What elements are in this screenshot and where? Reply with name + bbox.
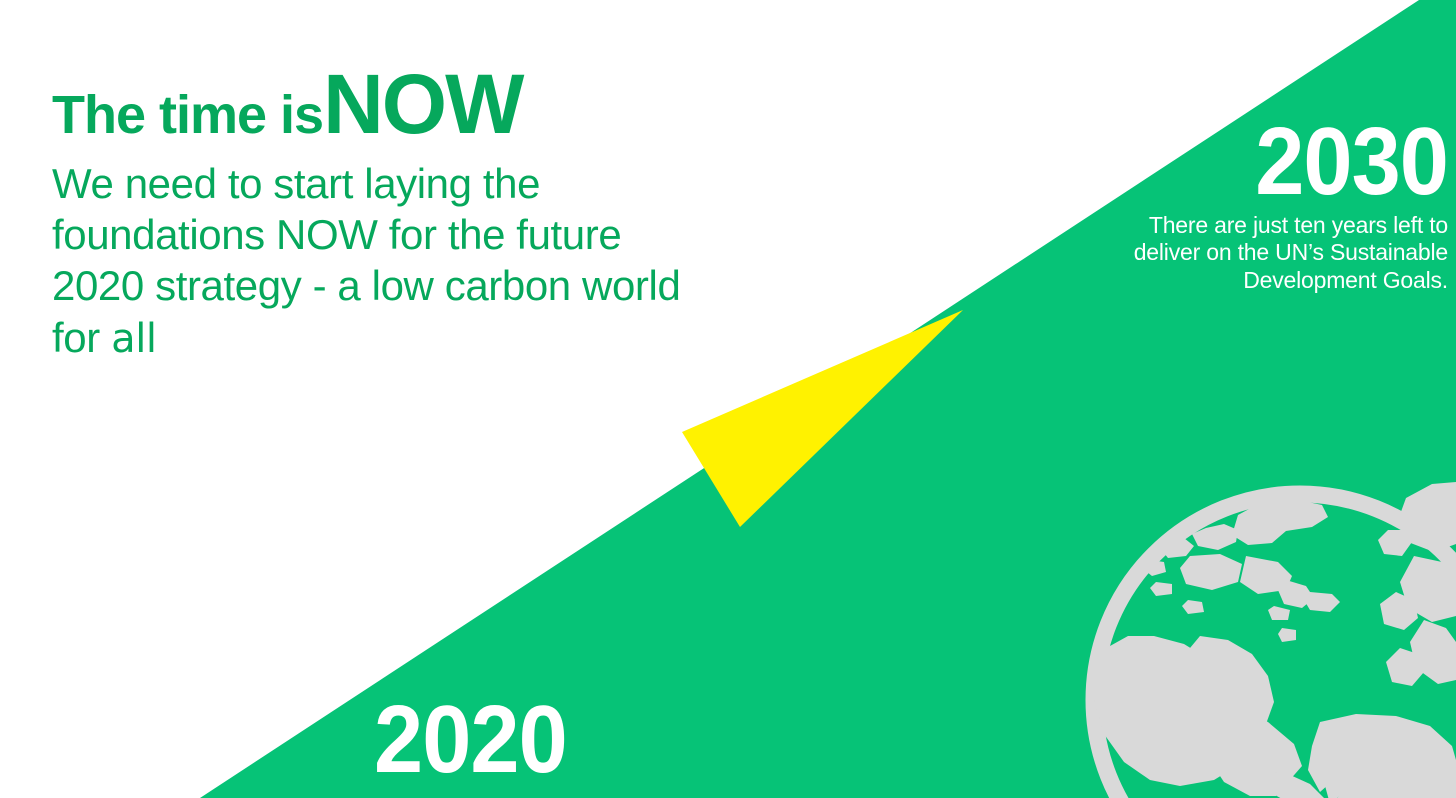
year-2030-caption: There are just ten years left to deliver… <box>1078 212 1448 293</box>
subhead-emphasis: all <box>111 316 157 362</box>
slide-canvas: The time isNOW We need to start laying t… <box>0 0 1456 798</box>
year-2020-label: 2020 <box>374 692 567 788</box>
year-2030-label: 2030 <box>1108 118 1448 206</box>
subhead-paragraph: We need to start laying the foundations … <box>52 158 692 364</box>
headline-block: The time isNOW We need to start laying t… <box>52 62 752 364</box>
headline-emphasis: NOW <box>323 57 522 151</box>
year-2030-block: 2030 There are just ten years left to de… <box>1078 118 1448 294</box>
page-title: The time isNOW <box>52 62 752 146</box>
year-2020-block: 2020 <box>374 692 584 788</box>
headline-lead: The time is <box>52 85 323 145</box>
